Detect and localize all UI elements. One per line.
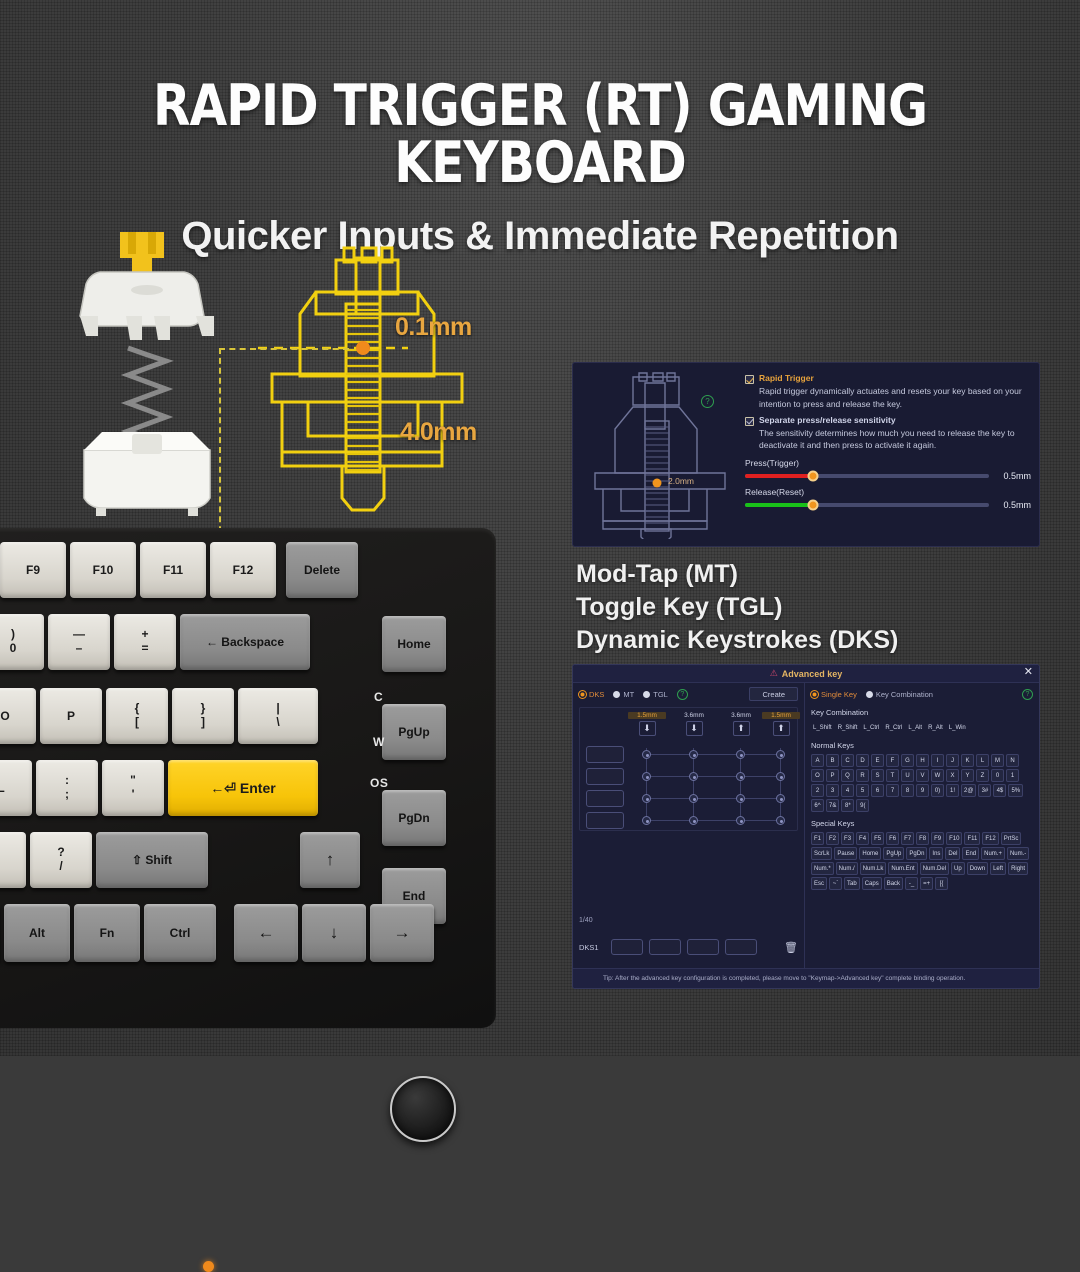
dks-column-3: 3.6mm ⬆ [722, 712, 760, 736]
key-bracket-left-top: { [135, 702, 140, 716]
special-key-1[interactable]: F2 [826, 832, 839, 845]
key-backslash-top: | [276, 702, 279, 716]
special-key-10[interactable]: F11 [964, 832, 980, 845]
key-bracket-left[interactable]: {[ [106, 688, 168, 744]
indicator-w: W [373, 735, 385, 749]
switch-outline-graphic [585, 371, 735, 539]
dks-column-2-direction-icon[interactable]: ⬇ [686, 721, 703, 736]
dks-vline-4 [780, 748, 781, 822]
key-mode-single[interactable]: Single Key [811, 690, 857, 699]
normal-key-15[interactable]: P [826, 769, 839, 782]
dks-hline-2 [646, 776, 780, 777]
normal-key-2[interactable]: C [841, 754, 854, 767]
special-key-8[interactable]: F9 [931, 832, 944, 845]
dialog-body: DKS MT TGL ? Create 1.5mm ⬇ [573, 683, 1039, 968]
indicator-os: OS [370, 776, 388, 790]
dks-node-r4c4[interactable] [776, 816, 785, 825]
key-combination-chips: L_ShiftR_ShiftL_CtrlR_CtrlL_AltR_AltL_Wi… [811, 721, 1033, 734]
warning-icon: ⚠ [770, 668, 778, 679]
key-f10[interactable]: F10 [70, 542, 136, 598]
create-button[interactable]: Create [749, 687, 798, 701]
normal-key-27[interactable]: 1 [1006, 769, 1019, 782]
normal-key-3[interactable]: D [856, 754, 869, 767]
switch-travel-label: 2.0mm [668, 476, 694, 486]
special-key-27[interactable]: Num.Del [920, 862, 949, 875]
key-enter[interactable]: ←⏎ Enter [168, 760, 318, 816]
guide-line-horizontal [219, 348, 349, 350]
normal-key-32[interactable]: 6 [871, 784, 884, 797]
dimension-label-actuation: 0.1mm [395, 313, 472, 342]
key-slash-bottom: / [59, 860, 62, 874]
separate-sensitivity-label: Separate press/release sensitivity [759, 415, 896, 425]
normal-key-36[interactable]: 0) [931, 784, 944, 797]
dialog-tipbar: Tip: After the advanced key configuratio… [573, 968, 1039, 988]
special-key-33[interactable]: ~` [829, 877, 842, 890]
key-bracket-right-bottom: ] [201, 716, 205, 730]
switch-wireframe-diagram [258, 240, 518, 525]
key-slash[interactable]: ?/ [30, 832, 92, 888]
feature-dynamic-keystrokes: Dynamic Keystrokes (DKS) [576, 624, 898, 657]
normal-key-9[interactable]: J [946, 754, 959, 767]
normal-key-18[interactable]: S [871, 769, 884, 782]
press-slider-value: 0.5mm [997, 471, 1031, 481]
special-key-37[interactable]: -_ [905, 877, 918, 890]
dks-column-1-distance: 1.5mm [628, 712, 666, 719]
key-minus-bottom: – [76, 642, 83, 656]
key-arrow-right[interactable]: → [370, 904, 434, 962]
mode-radio-dks[interactable]: DKS [579, 690, 604, 699]
key-pgdn[interactable]: PgDn [382, 790, 446, 846]
mode-radio-tgl[interactable]: TGL [643, 690, 668, 699]
dks-timing-grid: 1.5mm ⬇ 3.6mm ⬇ 3.6mm ⬆ 1.5mm ⬆ [579, 707, 798, 831]
normal-key-0[interactable]: A [811, 754, 824, 767]
press-slider-label: Press(Trigger) [745, 458, 1031, 468]
dks-node-r4c2[interactable] [689, 816, 698, 825]
key-0-top: ) [11, 628, 15, 642]
dks-column-3-direction-icon[interactable]: ⬆ [733, 721, 750, 736]
key-shift[interactable]: ⇧ Shift [96, 832, 208, 888]
radio-dot-mt [613, 691, 620, 698]
dks-row-label: DKS1 [579, 943, 605, 952]
dks-column-1: 1.5mm ⬇ [628, 712, 666, 736]
normal-key-12[interactable]: M [991, 754, 1004, 767]
dks-node-r3c2[interactable] [689, 794, 698, 803]
key-f9[interactable]: F9 [0, 542, 66, 598]
key-mode-radio-group: Single Key Key Combination ? [811, 687, 1033, 701]
key-backslash-bottom: \ [276, 716, 279, 730]
indicator-c: C [374, 690, 383, 704]
switch-top-housing-icon [80, 272, 214, 340]
mode-label-mt: MT [623, 690, 634, 699]
special-key-11[interactable]: F12 [982, 832, 998, 845]
key-0[interactable]: )0 [0, 614, 44, 670]
key-bracket-left-bottom: [ [135, 716, 139, 730]
normal-key-39[interactable]: 3# [978, 784, 991, 797]
key-l[interactable]: L [0, 760, 32, 816]
dks-node-r2c2[interactable] [689, 772, 698, 781]
combination-key-5[interactable]: R_Alt [926, 721, 945, 734]
special-key-9[interactable]: F10 [946, 832, 962, 845]
special-key-24[interactable]: Num./ [836, 862, 858, 875]
key-bracket-right-top: } [201, 702, 206, 716]
normal-key-42[interactable]: 6^ [811, 799, 824, 812]
dks-vline-3 [740, 748, 741, 822]
dks-slot-2[interactable] [586, 768, 624, 785]
normal-key-26[interactable]: 0 [991, 769, 1004, 782]
normal-key-37[interactable]: 1! [946, 784, 959, 797]
special-key-13[interactable]: ScrLk [811, 847, 832, 860]
normal-key-35[interactable]: 9 [916, 784, 929, 797]
page-title: RAPID TRIGGER (RT) GAMING KEYBOARD [27, 78, 1053, 192]
dks-node-r3c3[interactable] [736, 794, 745, 803]
press-slider-row[interactable]: 0.5mm [745, 471, 1031, 481]
mode-label-dks: DKS [589, 690, 604, 699]
special-key-17[interactable]: PgDn [906, 847, 927, 860]
special-key-31[interactable]: Right [1008, 862, 1028, 875]
normal-key-44[interactable]: 8* [841, 799, 854, 812]
key-equal[interactable]: += [114, 614, 176, 670]
dimension-label-total-travel: 4.0mm [400, 418, 477, 447]
dks-slot-1[interactable] [586, 746, 624, 763]
dks-column-2-distance: 3.6mm [675, 712, 713, 719]
release-slider-track[interactable] [745, 503, 989, 507]
normal-key-31[interactable]: 5 [856, 784, 869, 797]
close-icon[interactable]: ✕ [1024, 667, 1033, 678]
dks-vline-2 [693, 748, 694, 822]
release-slider-handle[interactable] [808, 500, 819, 511]
dks-assignment-row: DKS1 🗑 [579, 936, 798, 958]
normal-key-38[interactable]: 2@ [961, 784, 976, 797]
feature-mod-tap: Mod-Tap (MT) [576, 558, 898, 591]
dks-node-r3c4[interactable] [776, 794, 785, 803]
dks-hline-4 [646, 820, 780, 821]
dks-node-r1c1[interactable] [642, 750, 651, 759]
special-key-26[interactable]: Num.Ent [888, 862, 917, 875]
dks-node-r4c3[interactable] [736, 816, 745, 825]
special-key-32[interactable]: Esc [811, 877, 827, 890]
normal-key-40[interactable]: 4$ [993, 784, 1006, 797]
special-key-38[interactable]: =+ [920, 877, 933, 890]
special-key-12[interactable]: PrtSc [1001, 832, 1022, 845]
key-picker-pane: Single Key Key Combination ? Key Combina… [805, 683, 1039, 968]
special-key-34[interactable]: Tab [844, 877, 860, 890]
key-0-bottom: 0 [10, 642, 17, 656]
rapid-trigger-checkbox[interactable] [745, 375, 754, 384]
key-p[interactable]: P [40, 688, 102, 744]
help-icon[interactable]: ? [701, 395, 714, 408]
normal-key-7[interactable]: H [916, 754, 929, 767]
key-delete[interactable]: Delete [286, 542, 358, 598]
normal-key-4[interactable]: E [871, 754, 884, 767]
normal-key-13[interactable]: N [1006, 754, 1019, 767]
normal-key-1[interactable]: B [826, 754, 839, 767]
key-quote-top: " [130, 774, 136, 788]
special-key-5[interactable]: F6 [886, 832, 899, 845]
key-minus[interactable]: —– [48, 614, 110, 670]
dks-assign-cell-1[interactable] [611, 939, 643, 955]
separate-sensitivity-description: The sensitivity determines how much you … [759, 427, 1031, 453]
rapid-trigger-panel: 2.0mm ? Rapid Trigger Rapid trigger dyna… [572, 362, 1040, 547]
separate-sensitivity-checkbox-row[interactable]: Separate press/release sensitivity [745, 415, 1031, 426]
normal-key-29[interactable]: 3 [826, 784, 839, 797]
key-f12[interactable]: F12 [210, 542, 276, 598]
dks-column-2: 3.6mm ⬇ [675, 712, 713, 736]
rapid-trigger-settings: Rapid Trigger Rapid trigger dynamically … [745, 369, 1031, 510]
special-keys-chips: F1F2F3F4F5F6F7F8F9F10F11F12PrtScScrLkPau… [811, 832, 1033, 890]
special-key-0[interactable]: F1 [811, 832, 824, 845]
advanced-key-dialog: ⚠ Advanced key ✕ DKS MT TGL ? Creat [572, 664, 1040, 989]
special-key-21[interactable]: Num.+ [981, 847, 1005, 860]
dks-node-r2c3[interactable] [736, 772, 745, 781]
release-slider-fill [745, 503, 813, 507]
keyboard-photo: F9 F10 F11 F12 Delete )0 —– += ← Backspa… [0, 528, 496, 1028]
key-backspace[interactable]: ← Backspace [180, 614, 310, 670]
dks-slot-3[interactable] [586, 790, 624, 807]
switch-stem-icon [120, 232, 164, 276]
dks-column-1-direction-icon[interactable]: ⬇ [639, 721, 656, 736]
dks-node-r1c2[interactable] [689, 750, 698, 759]
rapid-trigger-description: Rapid trigger dynamically actuates and r… [759, 385, 1031, 411]
special-key-29[interactable]: Down [967, 862, 988, 875]
normal-key-41[interactable]: 5% [1008, 784, 1023, 797]
mode-help-icon[interactable]: ? [677, 689, 688, 700]
key-period[interactable]: >. [0, 832, 26, 888]
key-alt[interactable]: Alt [4, 904, 70, 962]
key-mode-single-label: Single Key [821, 690, 857, 699]
normal-key-30[interactable]: 4 [841, 784, 854, 797]
dks-assign-cell-2[interactable] [649, 939, 681, 955]
special-key-25[interactable]: Num.Lk [860, 862, 887, 875]
rotary-knob[interactable] [390, 1076, 456, 1142]
normal-key-34[interactable]: 8 [901, 784, 914, 797]
rapid-trigger-checkbox-row[interactable]: Rapid Trigger [745, 373, 1031, 384]
dks-column-3-distance: 3.6mm [722, 712, 760, 719]
special-key-2[interactable]: F3 [841, 832, 854, 845]
key-arrow-up[interactable]: ↑ [300, 832, 360, 888]
radio-dot-key-combination [866, 691, 873, 698]
special-key-36[interactable]: Back [884, 877, 903, 890]
dks-node-r3c1[interactable] [642, 794, 651, 803]
release-slider-value: 0.5mm [997, 500, 1031, 510]
dialog-titlebar: ⚠ Advanced key ✕ [573, 665, 1039, 683]
normal-key-28[interactable]: 2 [811, 784, 824, 797]
dks-node-r2c1[interactable] [642, 772, 651, 781]
normal-key-6[interactable]: G [901, 754, 914, 767]
key-quote-bottom: ' [132, 788, 135, 802]
special-key-23[interactable]: Num.* [811, 862, 834, 875]
radio-dot-dks [579, 691, 586, 698]
dks-slot-4[interactable] [586, 812, 624, 829]
dks-node-r1c4[interactable] [776, 750, 785, 759]
key-picker-help-icon[interactable]: ? [1022, 689, 1033, 700]
special-key-14[interactable]: Pause [834, 847, 857, 860]
key-equal-top: + [141, 628, 148, 642]
press-slider-track[interactable] [745, 474, 989, 478]
separate-sensitivity-checkbox[interactable] [745, 417, 754, 426]
key-mode-combination[interactable]: Key Combination [866, 690, 933, 699]
normal-key-21[interactable]: V [916, 769, 929, 782]
dks-counter: 1/40 [579, 917, 593, 924]
normal-key-11[interactable]: L [976, 754, 989, 767]
radio-dot-tgl [643, 691, 650, 698]
rapid-trigger-label: Rapid Trigger [759, 373, 814, 383]
normal-key-22[interactable]: W [931, 769, 944, 782]
combination-key-3[interactable]: R_Ctrl [883, 721, 904, 734]
dks-column-4-direction-icon[interactable]: ⬆ [773, 721, 790, 736]
key-quote[interactable]: "' [102, 760, 164, 816]
special-key-16[interactable]: PgUp [883, 847, 904, 860]
combination-key-4[interactable]: L_Alt [906, 721, 924, 734]
mode-label-tgl: TGL [653, 690, 668, 699]
dks-node-r1c3[interactable] [736, 750, 745, 759]
normal-key-33[interactable]: 7 [886, 784, 899, 797]
key-slash-top: ? [57, 846, 64, 860]
key-semicolon-top: : [65, 774, 69, 788]
combination-key-2[interactable]: L_Ctrl [861, 721, 881, 734]
normal-key-16[interactable]: Q [841, 769, 854, 782]
release-slider-label: Release(Reset) [745, 487, 1031, 497]
special-key-15[interactable]: Home [859, 847, 881, 860]
key-ctrl[interactable]: Ctrl [144, 904, 216, 962]
normal-keys-chips: ABCDEFGHIJKLMNOPQRSTUVWXYZ01234567890)1!… [811, 754, 1033, 812]
combination-key-1[interactable]: R_Shift [836, 721, 860, 734]
special-key-3[interactable]: F4 [856, 832, 869, 845]
key-backslash[interactable]: |\ [238, 688, 318, 744]
special-keys-heading: Special Keys [811, 819, 1033, 828]
press-slider-fill [745, 474, 813, 478]
special-key-18[interactable]: Ins [929, 847, 943, 860]
normal-keys-heading: Normal Keys [811, 741, 1033, 750]
normal-key-17[interactable]: R [856, 769, 869, 782]
special-key-20[interactable]: End [962, 847, 979, 860]
key-bracket-right[interactable]: }] [172, 688, 234, 744]
feature-list: Mod-Tap (MT) Toggle Key (TGL) Dynamic Ke… [576, 558, 898, 657]
mode-radio-mt[interactable]: MT [613, 690, 634, 699]
combination-key-6[interactable]: L_Win [947, 721, 968, 734]
special-key-35[interactable]: Caps [862, 877, 882, 890]
key-arrow-left[interactable]: ← [234, 904, 298, 962]
key-fn[interactable]: Fn [74, 904, 140, 962]
key-equal-bottom: = [141, 642, 148, 656]
normal-key-5[interactable]: F [886, 754, 899, 767]
special-key-22[interactable]: Num.- [1007, 847, 1029, 860]
special-key-28[interactable]: Up [951, 862, 965, 875]
key-home[interactable]: Home [382, 616, 446, 672]
key-combination-heading: Key Combination [811, 708, 1033, 717]
special-key-7[interactable]: F8 [916, 832, 929, 845]
key-o[interactable]: O [0, 688, 36, 744]
normal-key-23[interactable]: X [946, 769, 959, 782]
normal-key-20[interactable]: U [901, 769, 914, 782]
key-semicolon[interactable]: :; [36, 760, 98, 816]
special-key-30[interactable]: Left [990, 862, 1006, 875]
dks-column-4-distance: 1.5mm [762, 712, 800, 719]
dialog-tip-text: Tip: After the advanced key configuratio… [603, 975, 965, 982]
feature-toggle-key: Toggle Key (TGL) [576, 591, 898, 624]
dks-node-r4c1[interactable] [642, 816, 651, 825]
switch-bottom-housing-icon [84, 432, 210, 516]
release-slider-row[interactable]: 0.5mm [745, 500, 1031, 510]
special-key-6[interactable]: F7 [901, 832, 914, 845]
normal-key-10[interactable]: K [961, 754, 974, 767]
normal-key-24[interactable]: Y [961, 769, 974, 782]
key-semicolon-bottom: ; [65, 788, 69, 802]
key-pgup[interactable]: PgUp [382, 704, 446, 760]
dks-column-4: 1.5mm ⬆ [762, 712, 800, 736]
dks-vline-1 [646, 748, 647, 822]
dks-hline-1 [646, 754, 780, 755]
dks-node-r2c4[interactable] [776, 772, 785, 781]
special-key-4[interactable]: F5 [871, 832, 884, 845]
dks-assign-cell-3[interactable] [687, 939, 719, 955]
dks-assign-cell-4[interactable] [725, 939, 757, 955]
switch-exploded-view [62, 228, 232, 518]
radio-dot-single-key [811, 691, 818, 698]
special-key-19[interactable]: Del [945, 847, 960, 860]
normal-key-25[interactable]: Z [976, 769, 989, 782]
special-key-39[interactable]: [{ [935, 877, 948, 890]
dialog-title: Advanced key [782, 669, 843, 679]
key-mode-combination-label: Key Combination [876, 690, 933, 699]
normal-key-8[interactable]: I [931, 754, 944, 767]
key-arrow-down[interactable]: ↓ [302, 904, 366, 962]
mode-radio-group: DKS MT TGL ? Create [579, 687, 798, 701]
dks-config-pane: DKS MT TGL ? Create 1.5mm ⬇ [573, 683, 805, 968]
press-slider-handle[interactable] [808, 471, 819, 482]
key-minus-top: — [73, 628, 85, 642]
normal-key-19[interactable]: T [886, 769, 899, 782]
combination-key-0[interactable]: L_Shift [811, 721, 834, 734]
key-f11[interactable]: F11 [140, 542, 206, 598]
actuation-indicator-dot [203, 1261, 214, 1272]
normal-key-43[interactable]: 7& [826, 799, 839, 812]
dks-hline-3 [646, 798, 780, 799]
normal-key-45[interactable]: 9( [856, 799, 869, 812]
trash-icon[interactable]: 🗑 [784, 941, 798, 954]
normal-key-14[interactable]: O [811, 769, 824, 782]
